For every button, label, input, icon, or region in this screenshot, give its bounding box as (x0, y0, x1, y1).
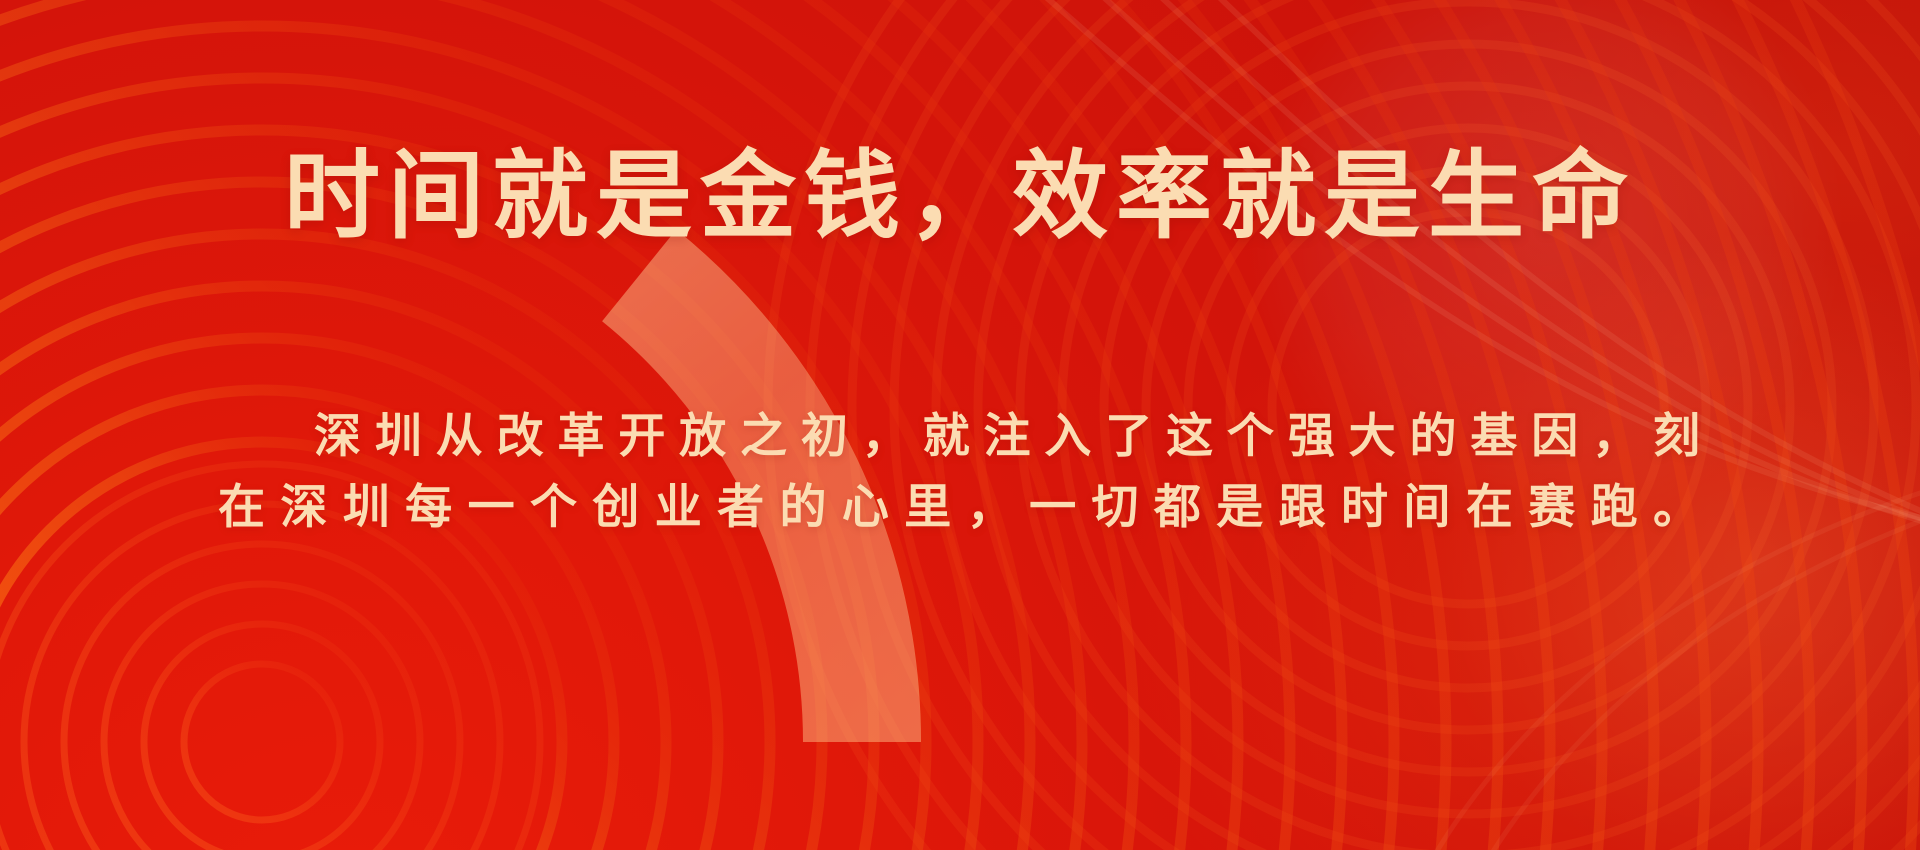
poster-subtitle: 深圳从改革开放之初，就注入了这个强大的基因，刻 在深圳每一个创业者的心里，一切都… (218, 400, 1702, 543)
poster-banner: 时间就是金钱，效率就是生命 深圳从改革开放之初，就注入了这个强大的基因，刻 在深… (0, 0, 1920, 850)
poster-subtitle-line-2: 在深圳每一个创业者的心里，一切都是跟时间在赛跑。 (218, 471, 1702, 542)
poster-headline: 时间就是金钱，效率就是生命 (0, 146, 1920, 248)
poster-content: 时间就是金钱，效率就是生命 深圳从改革开放之初，就注入了这个强大的基因，刻 在深… (0, 0, 1920, 850)
poster-subtitle-line-1: 深圳从改革开放之初，就注入了这个强大的基因，刻 (218, 400, 1702, 471)
